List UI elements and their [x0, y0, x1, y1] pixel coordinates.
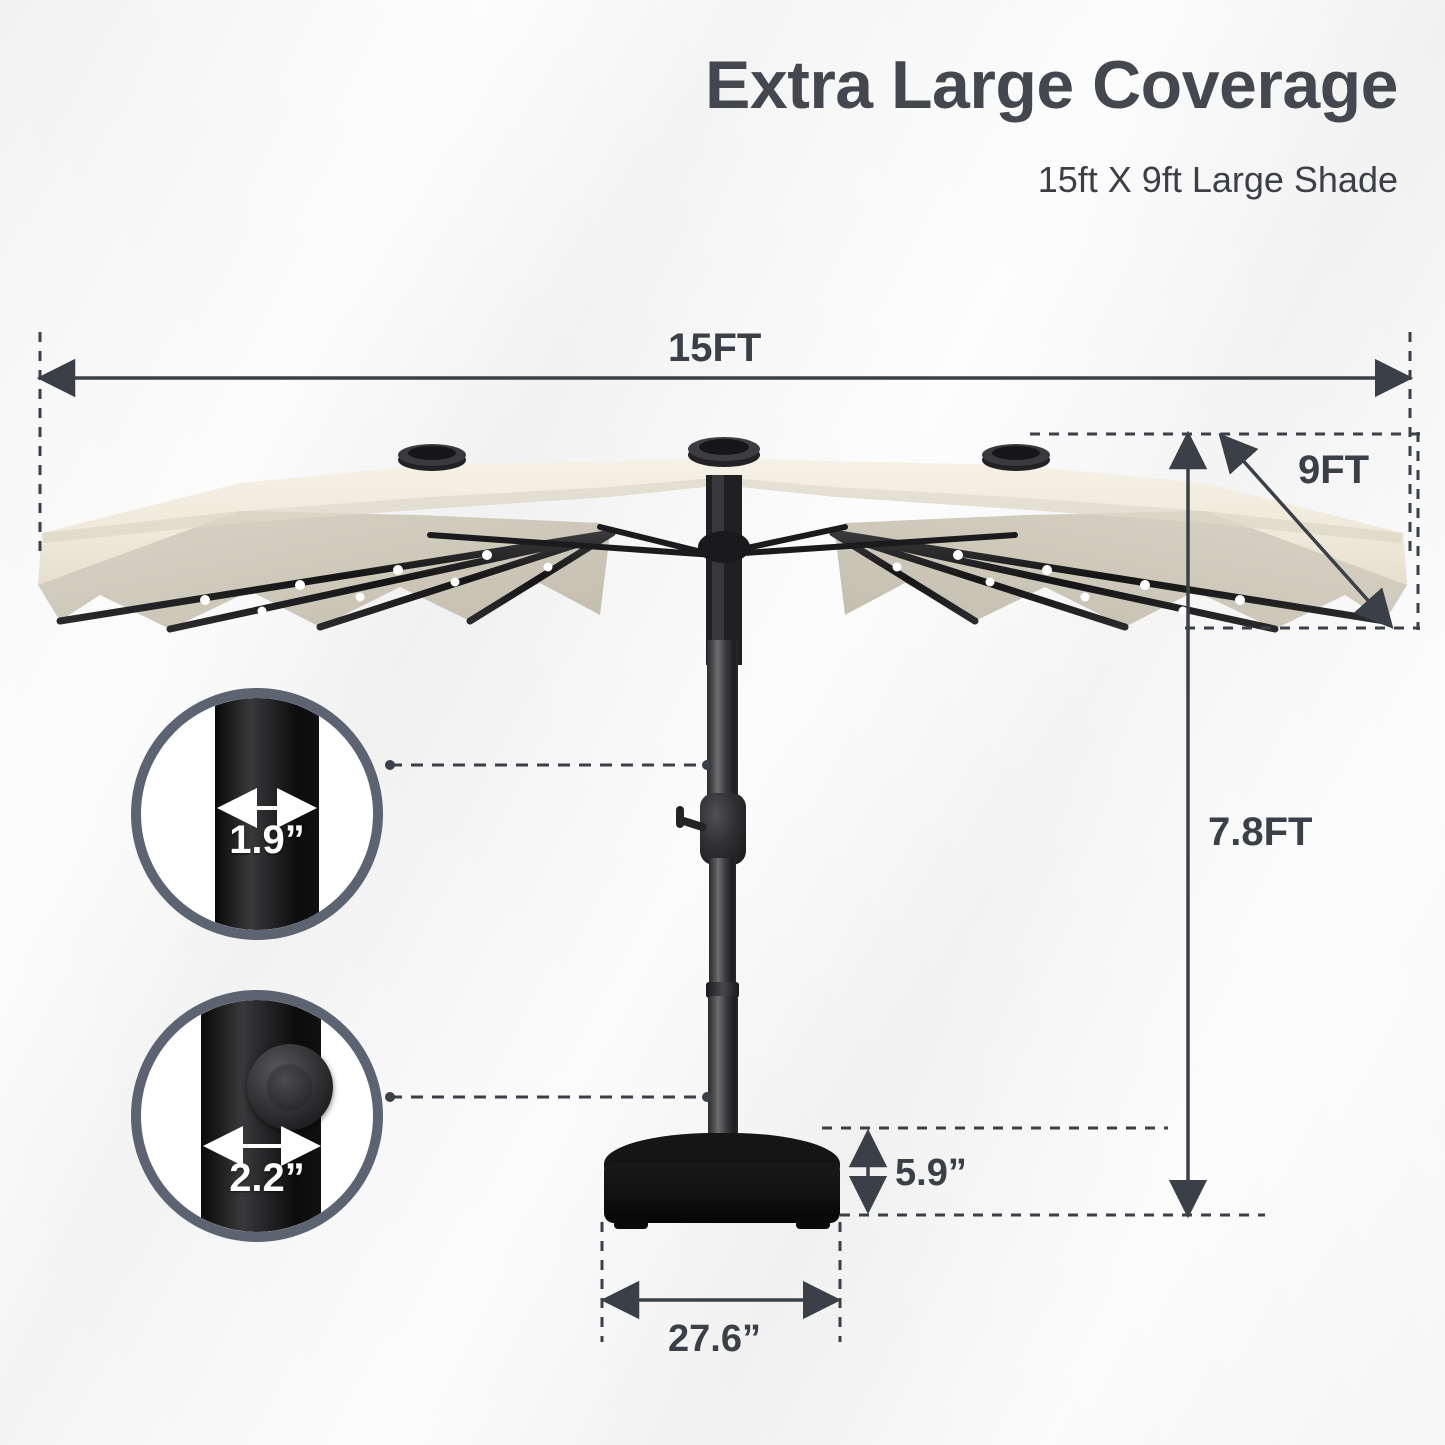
detail-callout-upper-pole: 1.9”	[131, 688, 383, 940]
dimension-label-base-height: 5.9”	[895, 1152, 967, 1195]
detail-arrow-19	[141, 698, 373, 930]
dimension-label-width: 15FT	[668, 326, 761, 371]
detail-callout-lower-pole: 2.2”	[131, 990, 383, 1242]
detail-label-upper-pole: 1.9”	[141, 818, 373, 863]
leader-line-1	[385, 760, 712, 770]
dimension-label-depth: 9FT	[1298, 448, 1369, 493]
dimension-label-base-width: 27.6”	[668, 1318, 761, 1361]
leader-line-2	[385, 1092, 712, 1102]
detail-label-lower-pole: 2.2”	[141, 1156, 373, 1201]
infographic-canvas: Extra Large Coverage 15ft X 9ft Large Sh…	[0, 0, 1445, 1445]
dimension-label-height: 7.8FT	[1208, 810, 1312, 855]
